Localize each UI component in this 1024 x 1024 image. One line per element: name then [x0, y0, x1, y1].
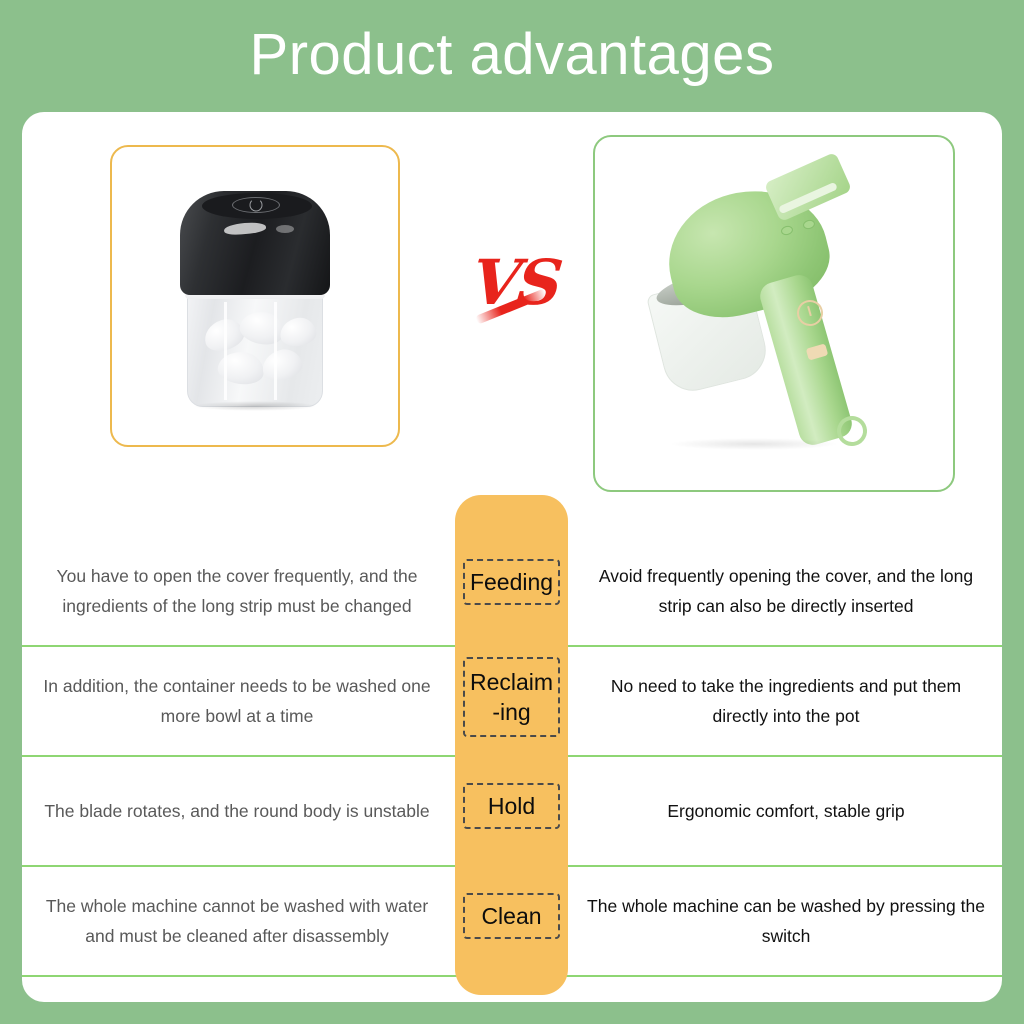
drop-shadow [193, 401, 317, 411]
comparison-table: You have to open the cover frequently, a… [22, 495, 1002, 1003]
black-mini-chopper-illustration [175, 185, 335, 407]
product-image-box-right [593, 135, 955, 492]
category-label-hold: Hold [463, 783, 560, 829]
comparison-cell-right: Ergonomic comfort, stable grip [570, 757, 1002, 865]
lid-highlight [224, 221, 267, 236]
comparison-cell-right: Avoid frequently opening the cover, and … [570, 537, 1002, 645]
comparison-cell-left: In addition, the container needs to be w… [22, 647, 452, 755]
category-label-feeding: Feeding [463, 559, 560, 605]
chopper-lid [180, 191, 330, 295]
garlic-clove [237, 308, 287, 348]
category-label-clean: Clean [463, 893, 560, 939]
comparison-cell-left: The blade rotates, and the round body is… [22, 757, 452, 865]
product-image-box-left [110, 145, 400, 447]
bowl-rib [274, 302, 277, 400]
chopper-bowl [187, 293, 323, 407]
bowl-rib [224, 302, 227, 400]
versus-badge: VS [468, 246, 564, 332]
garlic-clove [278, 316, 318, 349]
green-handheld-cutter-illustration [629, 164, 919, 464]
comparison-cell-left: You have to open the cover frequently, a… [22, 537, 452, 645]
comparison-cell-right: The whole machine can be washed by press… [570, 867, 1002, 975]
comparison-cell-right: No need to take the ingredients and put … [570, 647, 1002, 755]
power-icon [232, 197, 280, 213]
garlic-clove [259, 346, 305, 385]
page-title: Product advantages [0, 14, 1024, 96]
category-label-reclaiming: Reclaim -ing [463, 657, 560, 737]
drop-shadow [669, 438, 839, 450]
product-advantages-infographic: Product advantages VS [0, 0, 1024, 1024]
comparison-cell-left: The whole machine cannot be washed with … [22, 867, 452, 975]
lid-highlight [276, 225, 294, 233]
